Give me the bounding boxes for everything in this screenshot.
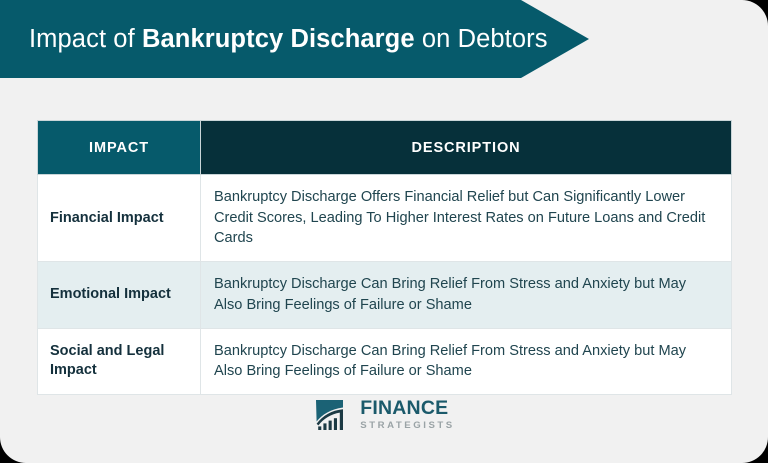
table-row: Financial Impact Bankruptcy Discharge Of… (38, 175, 732, 262)
brand-name-primary: FINANCE (360, 399, 455, 419)
table-header-row: IMPACT DESCRIPTION (38, 121, 732, 175)
table-header: IMPACT DESCRIPTION (38, 121, 732, 175)
brand-wordmark: FINANCE STRATEGISTS (360, 399, 455, 430)
cell-impact: Emotional Impact (38, 262, 201, 328)
cell-description: Bankruptcy Discharge Can Bring Relief Fr… (201, 262, 732, 328)
header-banner: Impact of Bankruptcy Discharge on Debtor… (0, 0, 589, 78)
table-row: Emotional Impact Bankruptcy Discharge Ca… (38, 262, 732, 328)
finance-strategists-bar-chart-icon (313, 398, 353, 432)
page-title-prefix: Impact of (29, 25, 142, 53)
table-body: Financial Impact Bankruptcy Discharge Of… (38, 175, 732, 395)
page-title-emphasis: Bankruptcy Discharge (142, 25, 415, 53)
impact-table-container: IMPACT DESCRIPTION Financial Impact Bank… (37, 120, 731, 395)
cell-impact: Financial Impact (38, 175, 201, 262)
brand-logo: FINANCE STRATEGISTS (0, 398, 768, 432)
cell-description: Bankruptcy Discharge Can Bring Relief Fr… (201, 328, 732, 394)
impact-table: IMPACT DESCRIPTION Financial Impact Bank… (37, 120, 732, 395)
column-header-description: DESCRIPTION (201, 121, 732, 175)
table-row: Social and Legal Impact Bankruptcy Disch… (38, 328, 732, 394)
page-title: Impact of Bankruptcy Discharge on Debtor… (0, 25, 548, 53)
column-header-impact: IMPACT (38, 121, 201, 175)
infographic-card: Impact of Bankruptcy Discharge on Debtor… (0, 0, 768, 463)
brand-name-secondary: STRATEGISTS (360, 421, 455, 431)
cell-description: Bankruptcy Discharge Offers Financial Re… (201, 175, 732, 262)
cell-impact: Social and Legal Impact (38, 328, 201, 394)
page-title-suffix: on Debtors (415, 25, 548, 53)
